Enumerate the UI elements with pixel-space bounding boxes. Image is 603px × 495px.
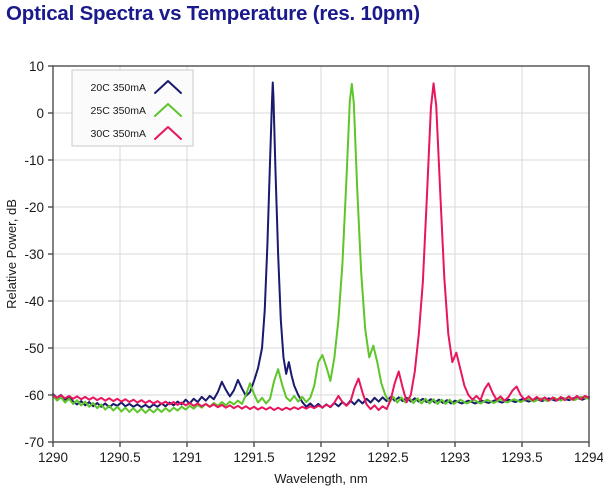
y-tick-label: -40 — [24, 294, 44, 309]
y-axis-title: Relative Power, dB — [4, 199, 19, 309]
y-tick-label: -30 — [24, 247, 44, 262]
spectra-plot: 100-10-20-30-40-50-60-7012901290.5129112… — [0, 0, 603, 495]
legend-label-0: 20C 350mA — [91, 82, 146, 94]
y-tick-label: -50 — [24, 341, 44, 356]
x-tick-label: 1294 — [574, 450, 603, 465]
y-tick-label: -20 — [24, 200, 44, 215]
legend: 20C 350mA25C 350mA30C 350mA — [72, 70, 193, 146]
y-tick-label: 0 — [36, 106, 44, 121]
x-tick-label: 1291.5 — [233, 450, 274, 465]
x-axis-title: Wavelength, nm — [274, 471, 367, 486]
chart-container: Optical Spectra vs Temperature (res. 10p… — [0, 0, 603, 495]
x-tick-label: 1292.5 — [367, 450, 408, 465]
x-tick-label: 1292 — [306, 450, 336, 465]
y-tick-label: -10 — [24, 153, 44, 168]
legend-label-2: 30C 350mA — [91, 128, 146, 140]
y-tick-label: -60 — [24, 388, 44, 403]
x-tick-label: 1291 — [172, 450, 202, 465]
x-tick-label: 1293 — [440, 450, 470, 465]
legend-label-1: 25C 350mA — [91, 105, 146, 117]
x-tick-label: 1290 — [38, 450, 68, 465]
y-tick-label: 10 — [29, 59, 44, 74]
y-axis: 100-10-20-30-40-50-60-70 — [24, 59, 53, 450]
x-tick-label: 1290.5 — [99, 450, 140, 465]
x-axis: 12901290.512911291.512921292.512931293.5… — [38, 442, 603, 465]
x-tick-label: 1293.5 — [501, 450, 542, 465]
y-tick-label: -70 — [24, 435, 44, 450]
